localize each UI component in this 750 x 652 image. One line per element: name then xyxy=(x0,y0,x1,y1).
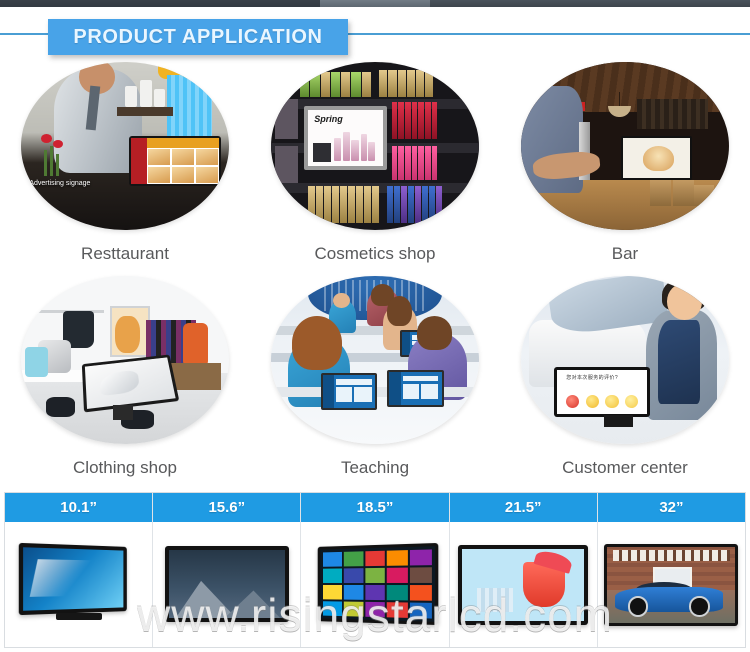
emoji-angry-icon xyxy=(566,395,579,408)
application-label-cosmetics: Cosmetics shop xyxy=(250,244,500,264)
sliver-segment-mid xyxy=(320,0,430,7)
tablet-device xyxy=(387,370,443,407)
size-label: 15.6” xyxy=(208,499,245,516)
application-label-bar: Bar xyxy=(500,244,750,264)
application-photo-restaurant: Advertising signage xyxy=(21,62,229,230)
oval-frame xyxy=(271,276,479,444)
oval-frame xyxy=(21,276,229,444)
section-title-tab: PRODUCT APPLICATION xyxy=(48,19,348,55)
size-column-10-1[interactable]: 10.1” xyxy=(5,493,153,647)
oval-frame xyxy=(521,62,729,230)
emoji-happy-icon xyxy=(605,395,618,408)
application-row-1: Advertising signage Resttaurant xyxy=(0,60,750,274)
emoji-neutral-icon xyxy=(586,395,599,408)
tablet-device xyxy=(321,373,377,410)
size-header: 15.6” xyxy=(153,493,300,523)
application-photo-cosmetics: Spring xyxy=(271,62,479,230)
application-cell-clothing[interactable]: Clothing shop xyxy=(0,274,250,488)
size-product-image-10-1 xyxy=(5,523,152,647)
application-cell-teaching[interactable]: Teaching xyxy=(250,274,500,488)
application-photo-clothing xyxy=(21,276,229,444)
size-options-panel: 10.1” 15.6” 18.5” xyxy=(4,492,746,648)
size-header: 18.5” xyxy=(301,493,448,523)
size-header: 32” xyxy=(598,493,745,523)
application-cell-customer-center[interactable]: 您对本次服务的评价? Custo xyxy=(500,274,750,488)
application-row-2: Clothing shop xyxy=(0,274,750,488)
sliver-segment-right xyxy=(430,0,750,7)
size-column-15-6[interactable]: 15.6” xyxy=(153,493,301,647)
application-photo-teaching xyxy=(271,276,479,444)
size-label: 18.5” xyxy=(357,499,394,516)
top-section-sliver xyxy=(0,0,750,7)
emoji-surprised-icon xyxy=(625,395,638,408)
oval-frame: Spring xyxy=(271,62,479,230)
application-cell-restaurant[interactable]: Advertising signage Resttaurant xyxy=(0,60,250,274)
sliver-segment-left xyxy=(0,0,320,7)
page-title: PRODUCT APPLICATION xyxy=(73,26,322,49)
size-header: 21.5” xyxy=(450,493,597,523)
application-label-restaurant: Resttaurant xyxy=(0,244,250,264)
size-column-18-5[interactable]: 18.5” xyxy=(301,493,449,647)
oval-frame: 您对本次服务的评价? xyxy=(521,276,729,444)
oval-frame: Advertising signage xyxy=(21,62,229,230)
size-product-image-21-5 xyxy=(450,523,597,647)
application-cell-bar[interactable]: Bar xyxy=(500,60,750,274)
size-product-image-15-6 xyxy=(153,523,300,647)
application-photo-bar xyxy=(521,62,729,230)
scene-caption-customer-center: 您对本次服务的评价? xyxy=(566,374,618,381)
application-grid: Advertising signage Resttaurant xyxy=(0,60,750,488)
size-column-21-5[interactable]: 21.5” xyxy=(450,493,598,647)
size-product-image-32 xyxy=(598,523,745,647)
scene-caption-restaurant: Advertising signage xyxy=(29,180,90,187)
size-label: 32” xyxy=(659,499,683,516)
application-cell-cosmetics[interactable]: Spring Cosmetics shop xyxy=(250,60,500,274)
size-label: 10.1” xyxy=(60,499,97,516)
size-product-image-18-5 xyxy=(301,523,448,647)
scene-caption-cosmetics: Spring xyxy=(314,114,343,124)
application-photo-customer-center: 您对本次服务的评价? xyxy=(521,276,729,444)
section-header: PRODUCT APPLICATION xyxy=(0,7,750,55)
size-header: 10.1” xyxy=(5,493,152,523)
size-label: 21.5” xyxy=(505,499,542,516)
application-label-teaching: Teaching xyxy=(250,458,500,478)
application-label-clothing: Clothing shop xyxy=(0,458,250,478)
application-label-customer-center: Customer center xyxy=(500,458,750,478)
size-column-32[interactable]: 32” xyxy=(598,493,745,647)
